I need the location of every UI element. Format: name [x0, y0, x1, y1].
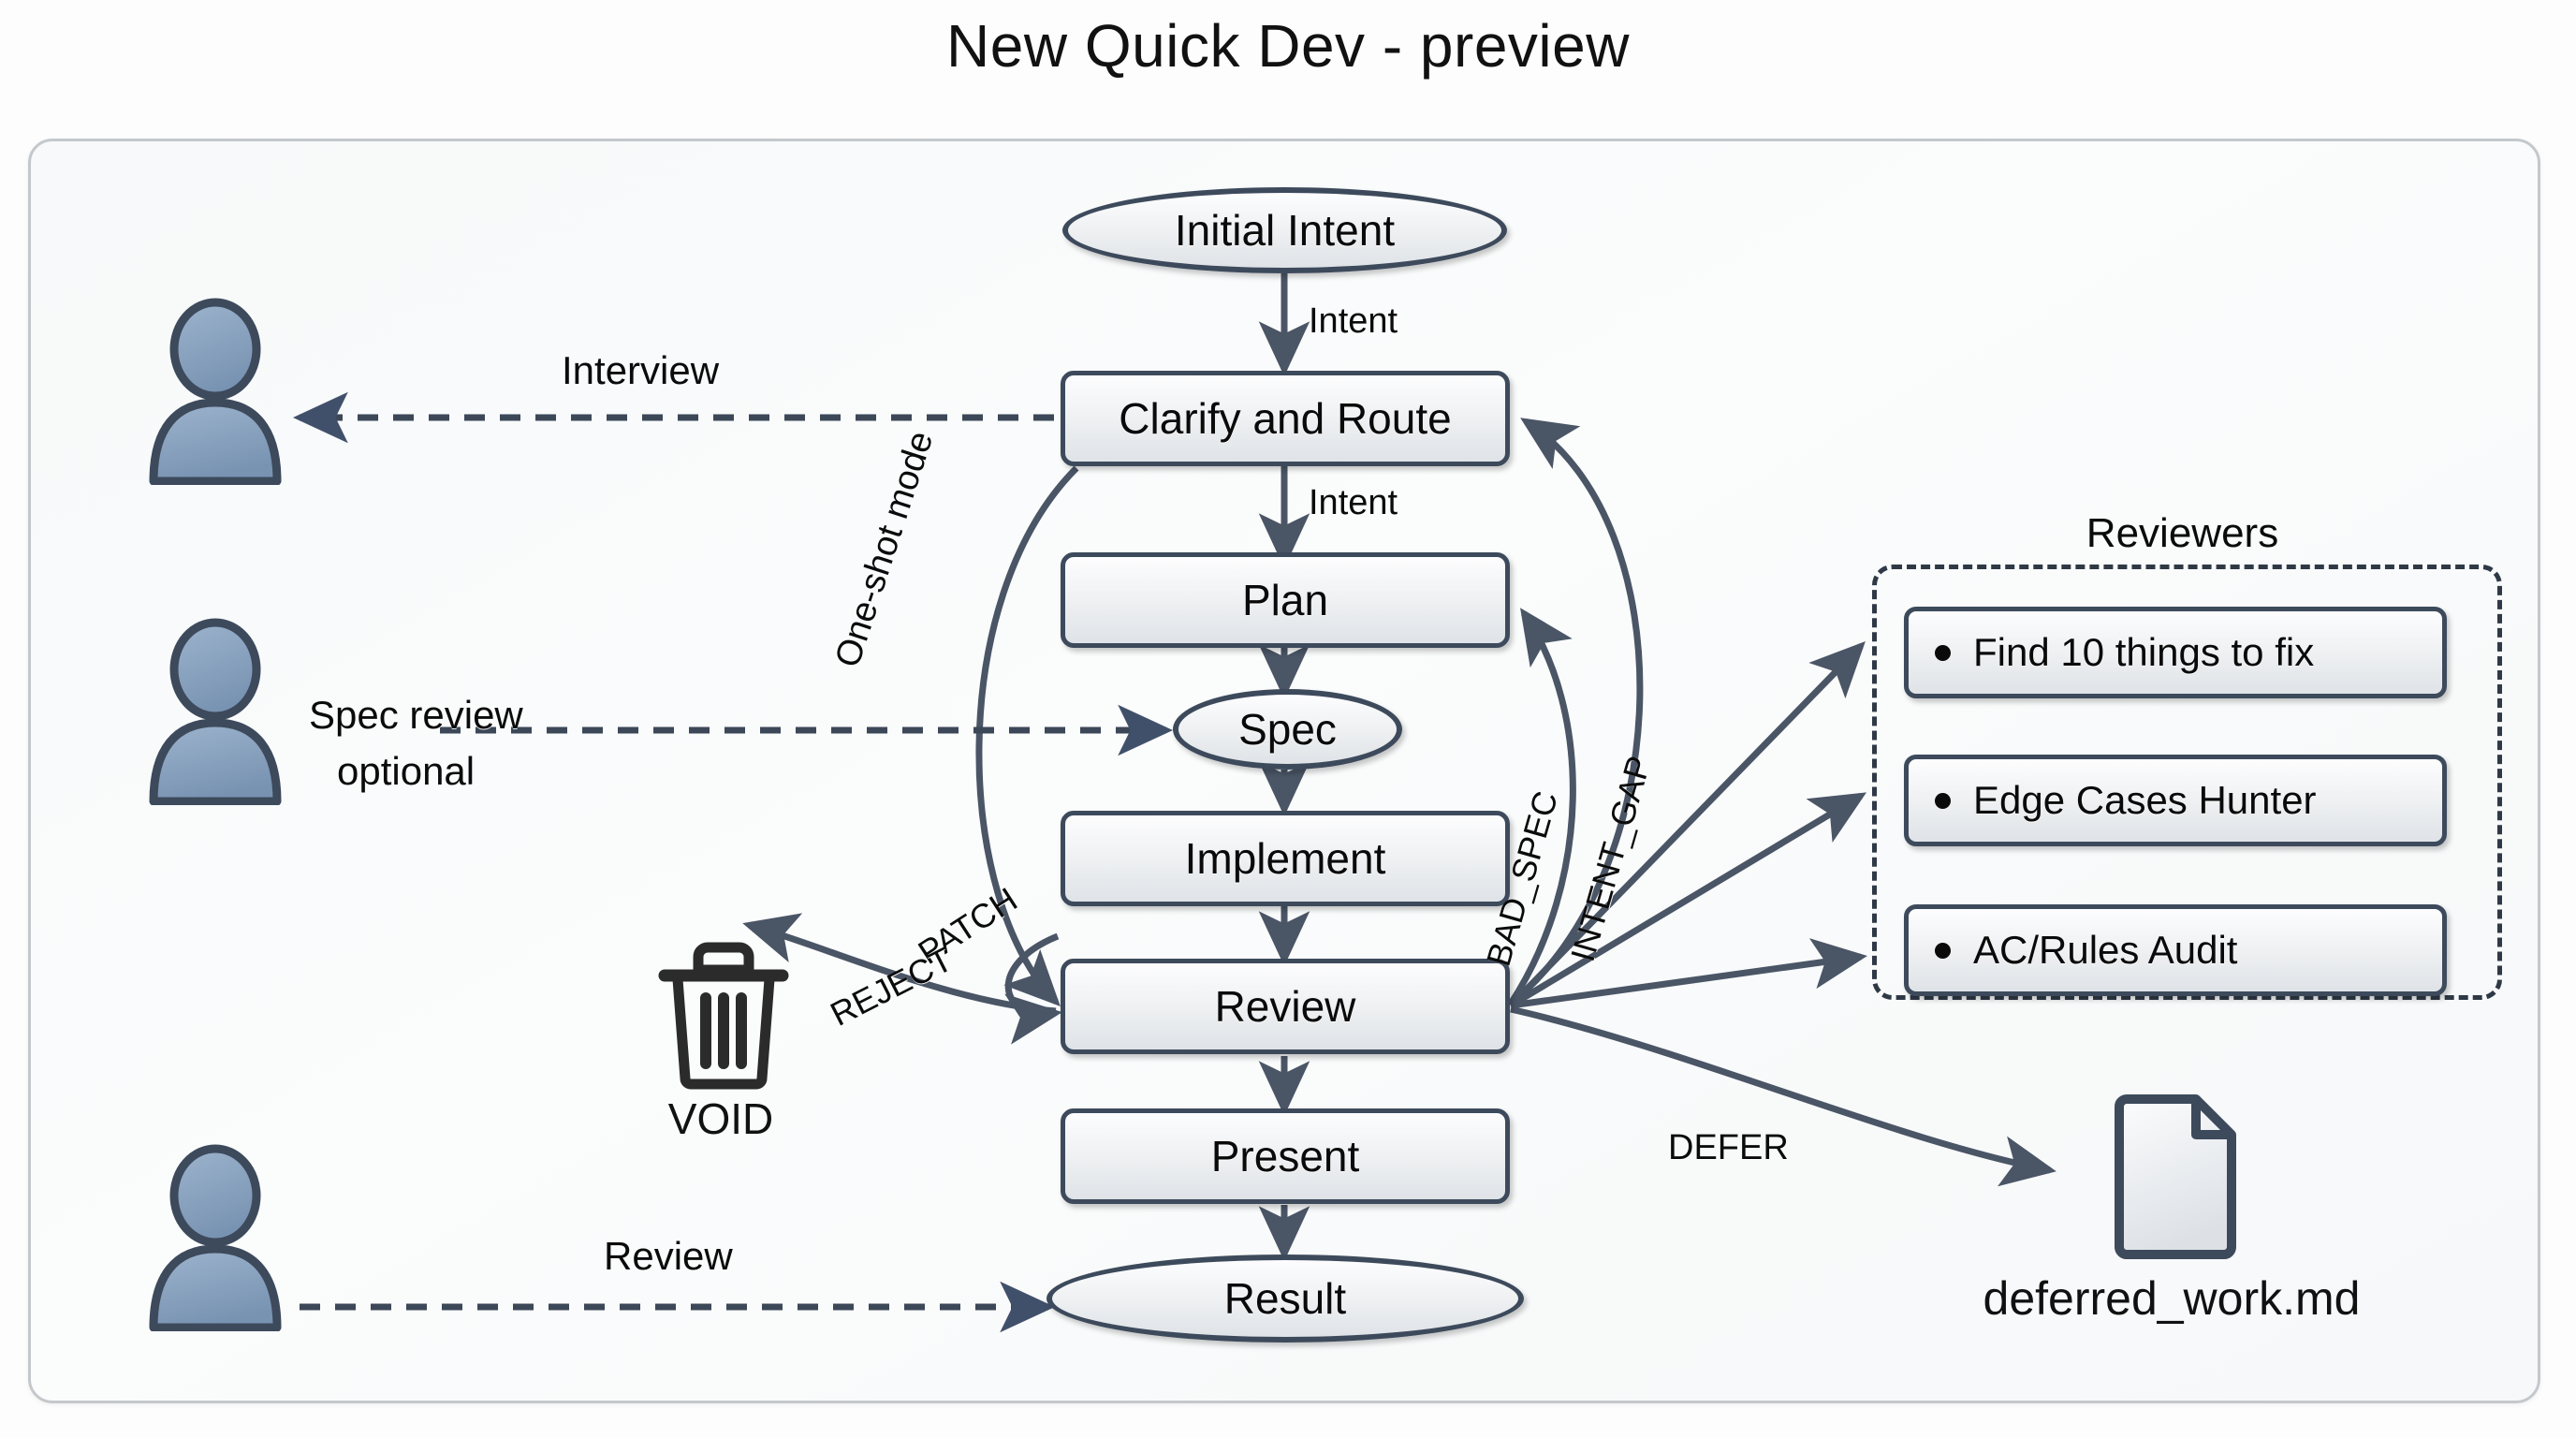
- actor-edge-label-spec-review: Spec review: [309, 693, 523, 738]
- actor-edge-label-spec-optional: optional: [337, 749, 475, 794]
- reviewer-item-find-10-things-to-fix[interactable]: Find 10 things to fix: [1904, 607, 2447, 698]
- user-icon: [140, 1144, 290, 1331]
- flow-node-initial-intent[interactable]: Initial Intent: [1062, 187, 1507, 273]
- actor-spec-reviewer[interactable]: [140, 618, 290, 805]
- flow-node-present[interactable]: Present: [1061, 1108, 1510, 1204]
- user-icon: [140, 618, 290, 805]
- actor-interviewee[interactable]: [140, 298, 290, 485]
- bullet-icon: [1935, 645, 1951, 661]
- flow-node-result[interactable]: Result: [1046, 1255, 1524, 1343]
- flow-node-label: Clarify and Route: [1119, 393, 1451, 444]
- void-label: VOID: [599, 1093, 842, 1144]
- flow-node-label: Plan: [1242, 575, 1328, 625]
- flow-node-label: Spec: [1238, 704, 1337, 755]
- actor-result-reviewer[interactable]: [140, 1144, 290, 1331]
- edge-label-defer: DEFER: [1668, 1128, 1789, 1168]
- flow-node-label: Initial Intent: [1175, 205, 1395, 256]
- user-icon: [140, 298, 290, 485]
- flow-node-label: Result: [1224, 1273, 1346, 1324]
- actor-edge-label-review: Review: [604, 1234, 733, 1279]
- bullet-icon: [1935, 943, 1951, 959]
- reviewer-label: Edge Cases Hunter: [1973, 778, 2317, 823]
- reviewer-label: Find 10 things to fix: [1973, 630, 2314, 675]
- reviewer-item-ac-rules-audit[interactable]: AC/Rules Audit: [1904, 904, 2447, 996]
- flow-node-implement[interactable]: Implement: [1061, 811, 1510, 906]
- flow-node-clarify-and-route[interactable]: Clarify and Route: [1061, 371, 1510, 466]
- reviewers-group-title: Reviewers: [1872, 510, 2493, 557]
- flow-node-label: Review: [1215, 981, 1356, 1032]
- trash-icon: [653, 936, 794, 1095]
- flow-node-label: Implement: [1185, 833, 1386, 884]
- flow-node-review[interactable]: Review: [1061, 959, 1510, 1054]
- deferred-file-label: deferred_work.md: [1835, 1271, 2509, 1326]
- bullet-icon: [1935, 793, 1951, 809]
- page-title: New Quick Dev - preview: [0, 11, 2576, 81]
- flow-node-label: Present: [1211, 1131, 1360, 1181]
- flow-node-spec[interactable]: Spec: [1173, 689, 1402, 770]
- document-icon: [2104, 1093, 2245, 1267]
- flow-node-plan[interactable]: Plan: [1061, 552, 1510, 648]
- edge-label-intent-2: Intent: [1309, 483, 1398, 523]
- actor-edge-label-interview: Interview: [562, 348, 719, 393]
- diagram-canvas: New Quick Dev - preview: [0, 0, 2576, 1438]
- reviewer-item-edge-cases-hunter[interactable]: Edge Cases Hunter: [1904, 755, 2447, 846]
- reviewer-label: AC/Rules Audit: [1973, 928, 2237, 973]
- edge-label-intent-1: Intent: [1309, 301, 1398, 342]
